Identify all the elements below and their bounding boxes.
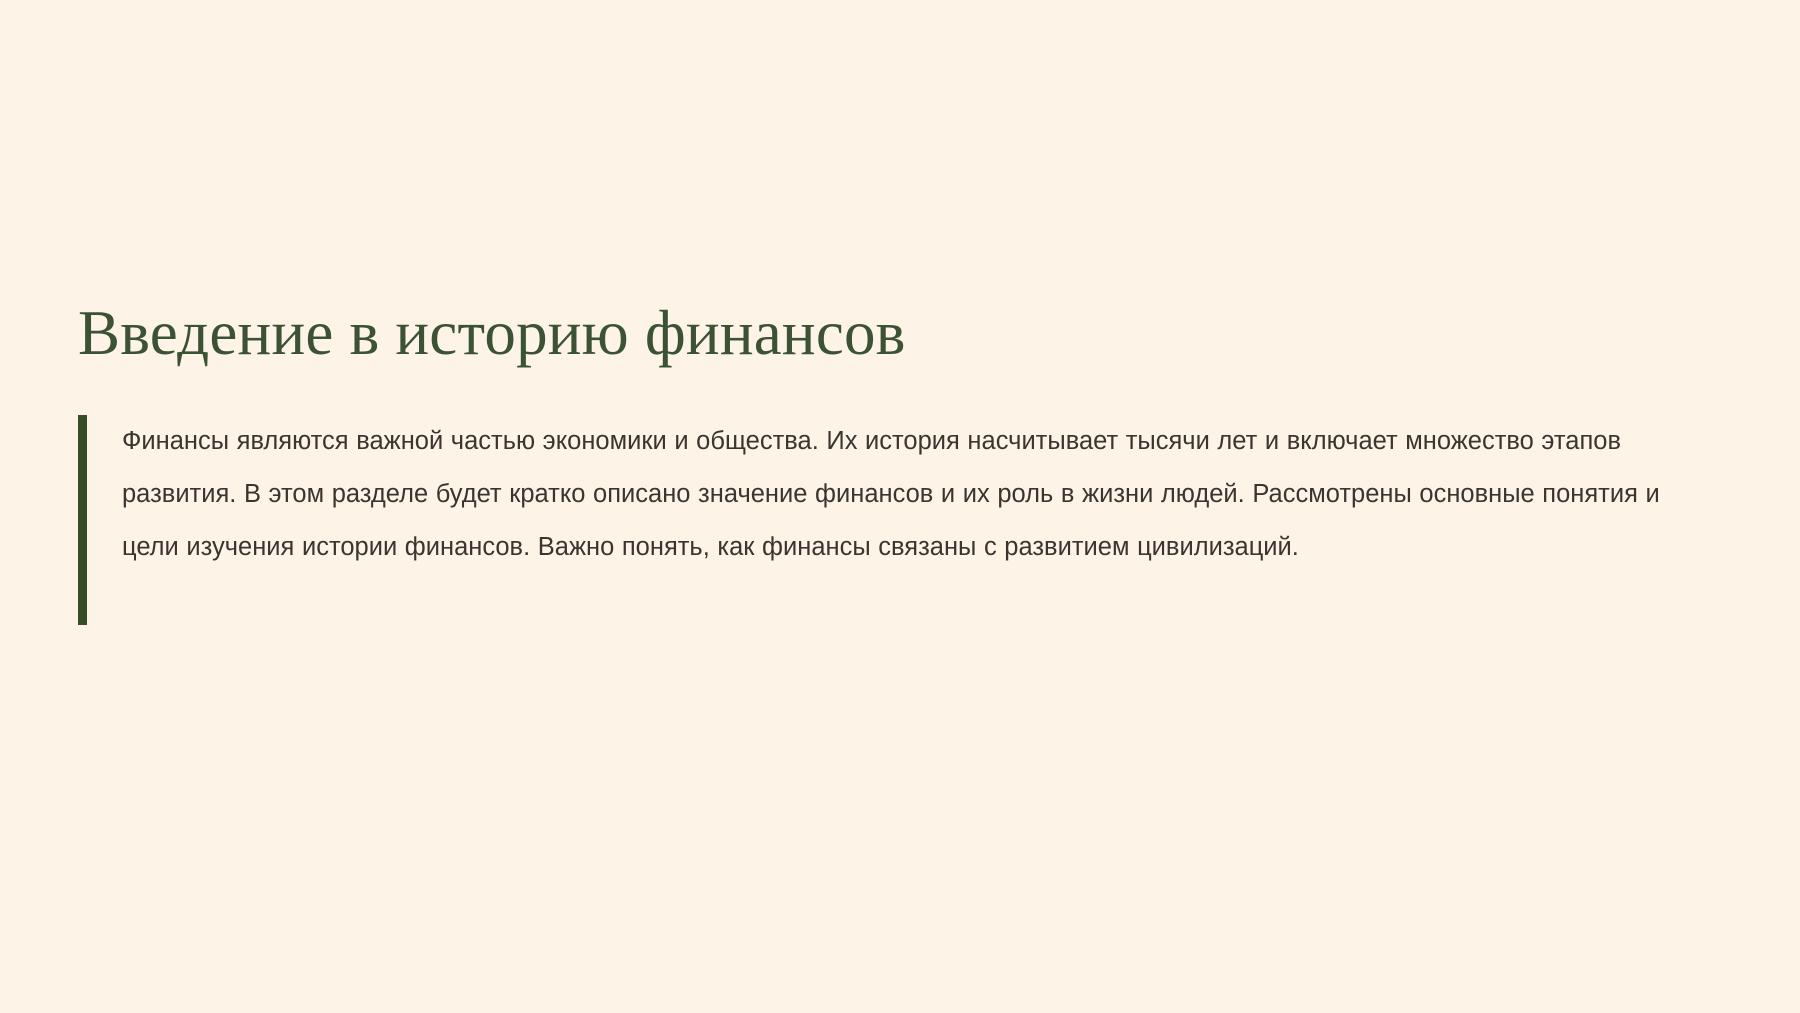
slide-canvas: Введение в историю финансов Финансы явля…	[0, 0, 1800, 1013]
body-quote-block: Финансы являются важной частью экономики…	[78, 415, 1718, 625]
body-paragraph: Финансы являются важной частью экономики…	[122, 415, 1722, 574]
accent-bar	[78, 415, 87, 625]
slide-content: Введение в историю финансов Финансы явля…	[78, 300, 1718, 625]
page-title: Введение в историю финансов	[78, 300, 1718, 367]
